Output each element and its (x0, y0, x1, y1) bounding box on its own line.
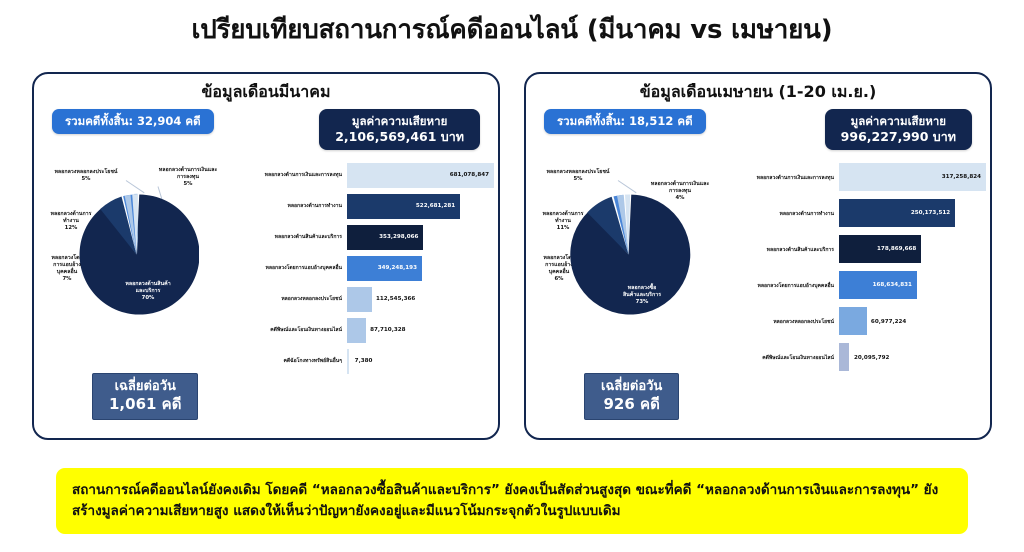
avg-value: 926 คดี (601, 395, 662, 414)
bar-track: 681,078,847 (347, 160, 494, 191)
avg-per-day-box: เฉลี่ยต่อวัน 926 คดี (584, 373, 679, 420)
bar-label: หลอกลวงโดยการแอบอ้างบุคคลอื่น (239, 265, 347, 271)
bar-value: 112,545,366 (372, 296, 415, 302)
panel-heading: ข้อมูลเดือนเมษายน (1-20 เม.ย.) (526, 83, 990, 101)
bar-track: 20,095,792 (839, 340, 986, 376)
avg-label: เฉลี่ยต่อวัน (601, 379, 662, 395)
bar-track: 522,681,281 (347, 191, 494, 222)
bar-value: 353,298,066 (379, 234, 423, 240)
damage-label: มูลค่าความเสียหาย (335, 114, 464, 129)
bar-row: หลอกลวงหลอกลงประโยชน์ 112,545,366 (239, 284, 494, 315)
bar-chart-march: หลอกลวงด้านการเงินและการลงทุน 681,078,84… (239, 156, 494, 414)
damage-amount: 996,227,990 บาท (841, 129, 956, 145)
pie-label-3: หลอกลวงด้านการเงินและ การลงทุน5% (146, 160, 230, 189)
panel-april: ข้อมูลเดือนเมษายน (1-20 เม.ย.) รวมคดีทั้… (524, 72, 992, 440)
bar-rect: 168,634,831 (839, 271, 917, 299)
bar-label: หลอกลวงด้านการทำงาน (239, 203, 347, 209)
panels-container: ข้อมูลเดือนมีนาคม รวมคดีทั้งสิ้น: 32,904… (32, 72, 992, 442)
bar-rect: 353,298,066 (347, 225, 423, 250)
bar-label: หลอกลวงหลอกลงประโยชน์ (731, 319, 839, 325)
damage-label: มูลค่าความเสียหาย (841, 114, 956, 129)
bar-track: 250,173,512 (839, 196, 986, 232)
bar-track: 349,248,193 (347, 253, 494, 284)
bar-label: หลอกลวงด้านการเงินและการลงทุน (239, 172, 347, 178)
pie-label-main: หลอกลวงด้านสินค้า และบริการ70% (110, 274, 186, 303)
bar-value: 87,710,328 (366, 327, 405, 333)
bar-label: คดีพิษณ์และโอนเงินทางออนไลน์ (239, 327, 347, 333)
bar-value: 7,380 (351, 358, 373, 364)
bar-row: หลอกลวงหลอกลงประโยชน์ 60,977,224 (731, 304, 986, 340)
bar-value: 168,634,831 (873, 282, 917, 288)
bar-label: หลอกลวงด้านสินค้าและบริการ (239, 234, 347, 240)
bar-row: หลอกลวงด้านการทำงาน 522,681,281 (239, 191, 494, 222)
pie-label-0: หลอกลวงหลอกลงประโยชน์5% (40, 162, 132, 183)
bar-row: หลอกลวงด้านการเงินและการลงทุน 681,078,84… (239, 160, 494, 191)
bar-track: 317,258,824 (839, 160, 986, 196)
panel-heading: ข้อมูลเดือนมีนาคม (34, 83, 498, 101)
bar-track: 353,298,066 (347, 222, 494, 253)
damage-amount: 2,106,569,461 บาท (335, 129, 464, 145)
summary-footer: สถานการณ์คดีออนไลน์ยังคงเดิม โดยคดี “หลอ… (56, 468, 968, 534)
panel-march: ข้อมูลเดือนมีนาคม รวมคดีทั้งสิ้น: 32,904… (32, 72, 500, 440)
bar-label: หลอกลวงด้านการเงินและการลงทุน (731, 175, 839, 181)
bar-row: หลอกลวงโดยการแอบอ้างบุคคลอื่น 349,248,19… (239, 253, 494, 284)
bar-value: 178,869,668 (877, 246, 921, 252)
bar-rect: 250,173,512 (839, 199, 955, 227)
bar-chart-april: หลอกลวงด้านการเงินและการลงทุน 317,258,82… (731, 156, 986, 414)
bar-row: หลอกลวงด้านการเงินและการลงทุน 317,258,82… (731, 160, 986, 196)
bar-row: คดีพิษณ์และโอนเงินทางออนไลน์ 20,095,792 (731, 340, 986, 376)
bar-row: หลอกลวงด้านการทำงาน 250,173,512 (731, 196, 986, 232)
bar-row: หลอกลวงโดยการแอบอ้างบุคคลอื่น 168,634,83… (731, 268, 986, 304)
bar-rect (839, 307, 867, 335)
bar-row: คดีพิษณ์และโอนเงินทางออนไลน์ 87,710,328 (239, 315, 494, 346)
avg-value: 1,061 คดี (109, 395, 181, 414)
bar-rect (839, 343, 849, 371)
pie-label-main: หลอกลวงซื้อ สินค้าและบริการ73% (604, 278, 680, 307)
bar-label: หลอกลวงหลอกลงประโยชน์ (239, 296, 347, 302)
bar-rect (347, 287, 372, 312)
bar-label: หลอกลวงโดยการแอบอ้างบุคคลอื่น (731, 283, 839, 289)
bar-row: คดีฉ้อโกงทางทรัพย์สินอื่นๆ 7,380 (239, 346, 494, 377)
pie-label-0: หลอกลวงหลอกลงประโยชน์5% (532, 162, 624, 183)
bar-rect: 349,248,193 (347, 256, 422, 281)
bar-value: 317,258,824 (942, 174, 986, 180)
bar-track: 112,545,366 (347, 284, 494, 315)
bar-track: 87,710,328 (347, 315, 494, 346)
bar-track: 60,977,224 (839, 304, 986, 340)
bar-value: 250,173,512 (911, 210, 955, 216)
bar-rect (347, 318, 366, 343)
bar-row: หลอกลวงด้านสินค้าและบริการ 178,869,668 (731, 232, 986, 268)
avg-per-day-box: เฉลี่ยต่อวัน 1,061 คดี (92, 373, 198, 420)
panel-badges: รวมคดีทั้งสิ้น: 18,512 คดี มูลค่าความเสี… (526, 101, 990, 150)
bar-rect: 178,869,668 (839, 235, 921, 263)
bar-label: หลอกลวงด้านการทำงาน (731, 211, 839, 217)
bar-track: 7,380 (347, 346, 494, 377)
avg-label: เฉลี่ยต่อวัน (109, 379, 181, 395)
panel-badges: รวมคดีทั้งสิ้น: 32,904 คดี มูลค่าความเสี… (34, 101, 498, 150)
bar-rect: 522,681,281 (347, 194, 460, 219)
total-cases-badge: รวมคดีทั้งสิ้น: 18,512 คดี (544, 109, 706, 134)
bar-value: 349,248,193 (378, 265, 422, 271)
page-title: เปรียบเทียบสถานการณ์คดีออนไลน์ (มีนาคม v… (0, 0, 1024, 45)
total-damage-badge: มูลค่าความเสียหาย 996,227,990 บาท (825, 109, 972, 150)
bar-track: 168,634,831 (839, 268, 986, 304)
bar-rect (347, 349, 349, 374)
bar-rect: 317,258,824 (839, 163, 986, 191)
total-cases-badge: รวมคดีทั้งสิ้น: 32,904 คดี (52, 109, 214, 134)
bar-label: คดีฉ้อโกงทางทรัพย์สินอื่นๆ (239, 358, 347, 364)
bar-value: 681,078,847 (450, 172, 494, 178)
bar-label: หลอกลวงด้านสินค้าและบริการ (731, 247, 839, 253)
bar-value: 60,977,224 (867, 319, 906, 325)
bar-value: 522,681,281 (416, 203, 460, 209)
bar-label: คดีพิษณ์และโอนเงินทางออนไลน์ (731, 355, 839, 361)
bar-row: หลอกลวงด้านสินค้าและบริการ 353,298,066 (239, 222, 494, 253)
bar-rect: 681,078,847 (347, 163, 494, 188)
bar-track: 178,869,668 (839, 232, 986, 268)
total-damage-badge: มูลค่าความเสียหาย 2,106,569,461 บาท (319, 109, 480, 150)
bar-value: 20,095,792 (850, 355, 889, 361)
